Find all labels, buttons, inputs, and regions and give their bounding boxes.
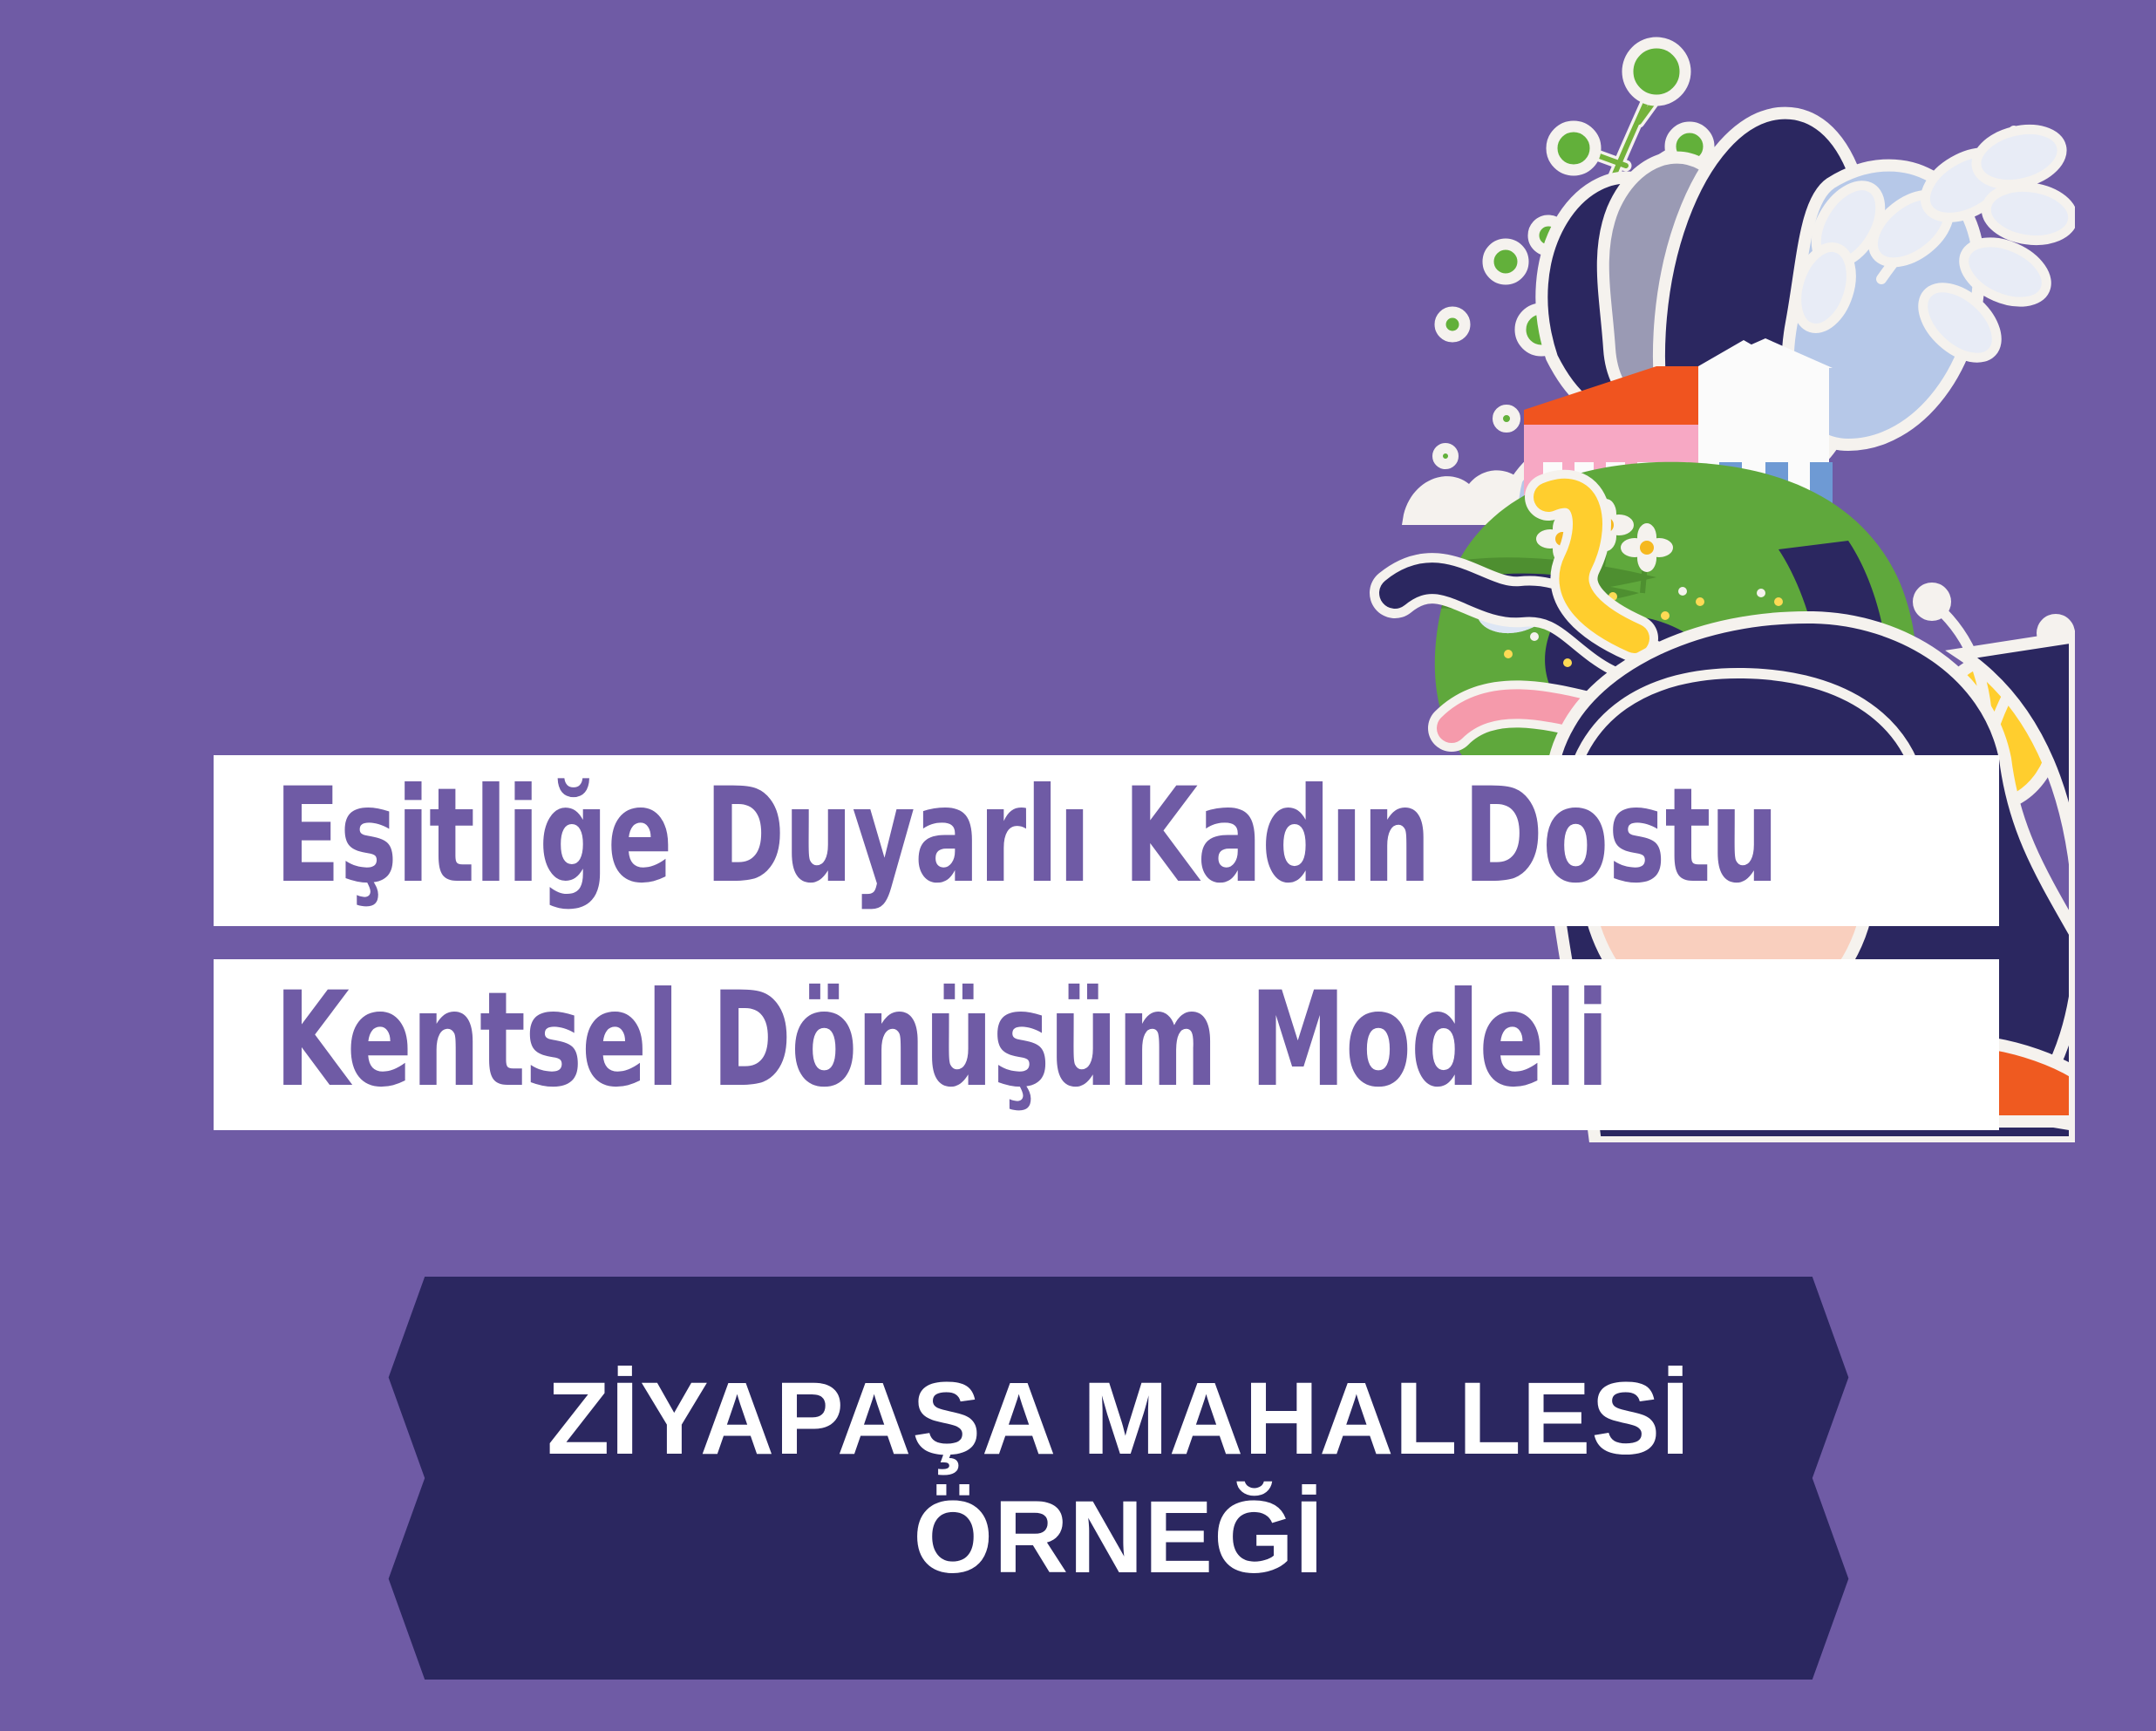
title-banner-line-2: Kentsel Dönüşüm Modeli: [214, 959, 1999, 1130]
title-line-2-text: Kentsel Dönüşüm Modeli: [275, 975, 1608, 1114]
poster-canvas: Eşitliğe Duyarlı Kadın Dostu Kentsel Dön…: [0, 0, 2156, 1731]
title-banner-line-1: Eşitliğe Duyarlı Kadın Dostu: [214, 755, 1999, 926]
subtitle-ribbon: [364, 1277, 1873, 1680]
title-line-1-text: Eşitliğe Duyarlı Kadın Dostu: [275, 771, 1779, 910]
